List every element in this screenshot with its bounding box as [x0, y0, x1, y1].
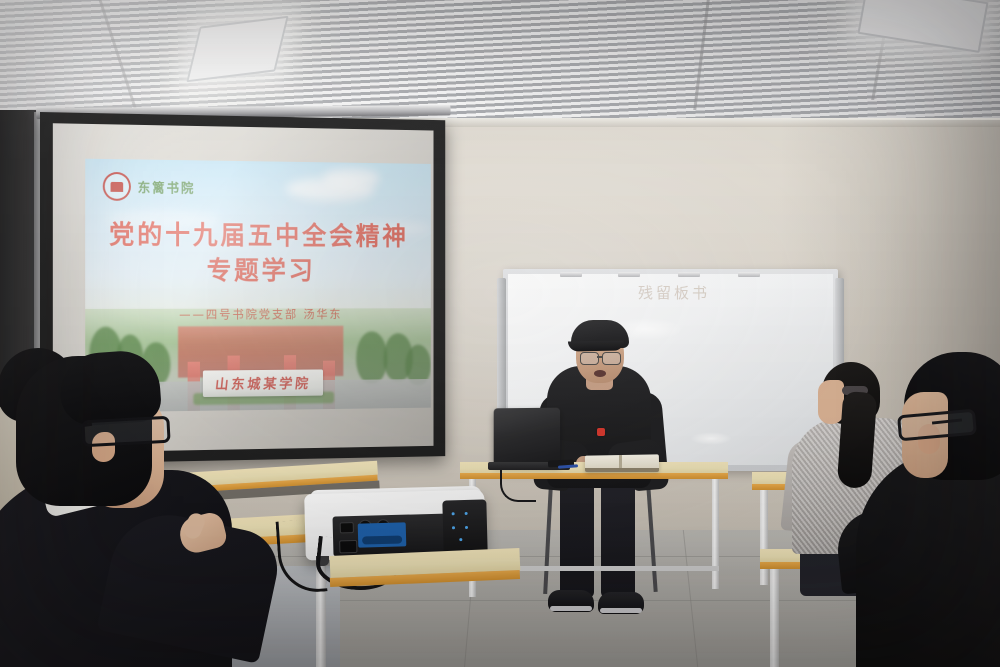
status-led — [452, 526, 455, 529]
cap-brim — [568, 341, 624, 352]
glasses-bridge — [597, 356, 603, 358]
desk-leg — [770, 569, 779, 667]
desk-leg — [712, 479, 719, 589]
presenter-mouth — [594, 370, 606, 377]
laptop-screen[interactable] — [494, 408, 560, 466]
whiteboard-clip — [560, 272, 582, 277]
classroom-photo: 东篱书院 — [0, 0, 1000, 667]
shoe-sole — [550, 606, 592, 611]
audience-face — [818, 380, 844, 424]
whiteboard-clip — [678, 272, 700, 277]
status-led — [459, 538, 462, 541]
status-led — [465, 526, 468, 529]
whiteboard-clip — [618, 272, 640, 277]
presenter-shoe — [598, 592, 644, 614]
status-led — [452, 512, 455, 515]
whiteboard-glare — [690, 432, 732, 445]
desk-leg — [760, 490, 768, 585]
status-led — [465, 512, 468, 515]
laptop-power-cord — [500, 470, 536, 502]
whiteboard-ghost-writing: 残留板书 — [638, 282, 748, 300]
glasses-lens-icon — [602, 352, 621, 365]
presenter-shoe — [548, 590, 594, 612]
presenter-leg — [560, 480, 594, 598]
party-emblem-pin-icon — [597, 428, 605, 436]
shoe-sole — [600, 608, 642, 613]
glasses-icon — [81, 416, 170, 448]
ponytail — [837, 391, 878, 489]
whiteboard-clip — [738, 272, 760, 277]
glasses-lens-icon — [580, 352, 599, 365]
projector-control-panel — [442, 499, 487, 554]
presenter-leg — [601, 480, 635, 598]
notebook-page-edge — [585, 468, 659, 472]
projector-port — [340, 522, 354, 533]
